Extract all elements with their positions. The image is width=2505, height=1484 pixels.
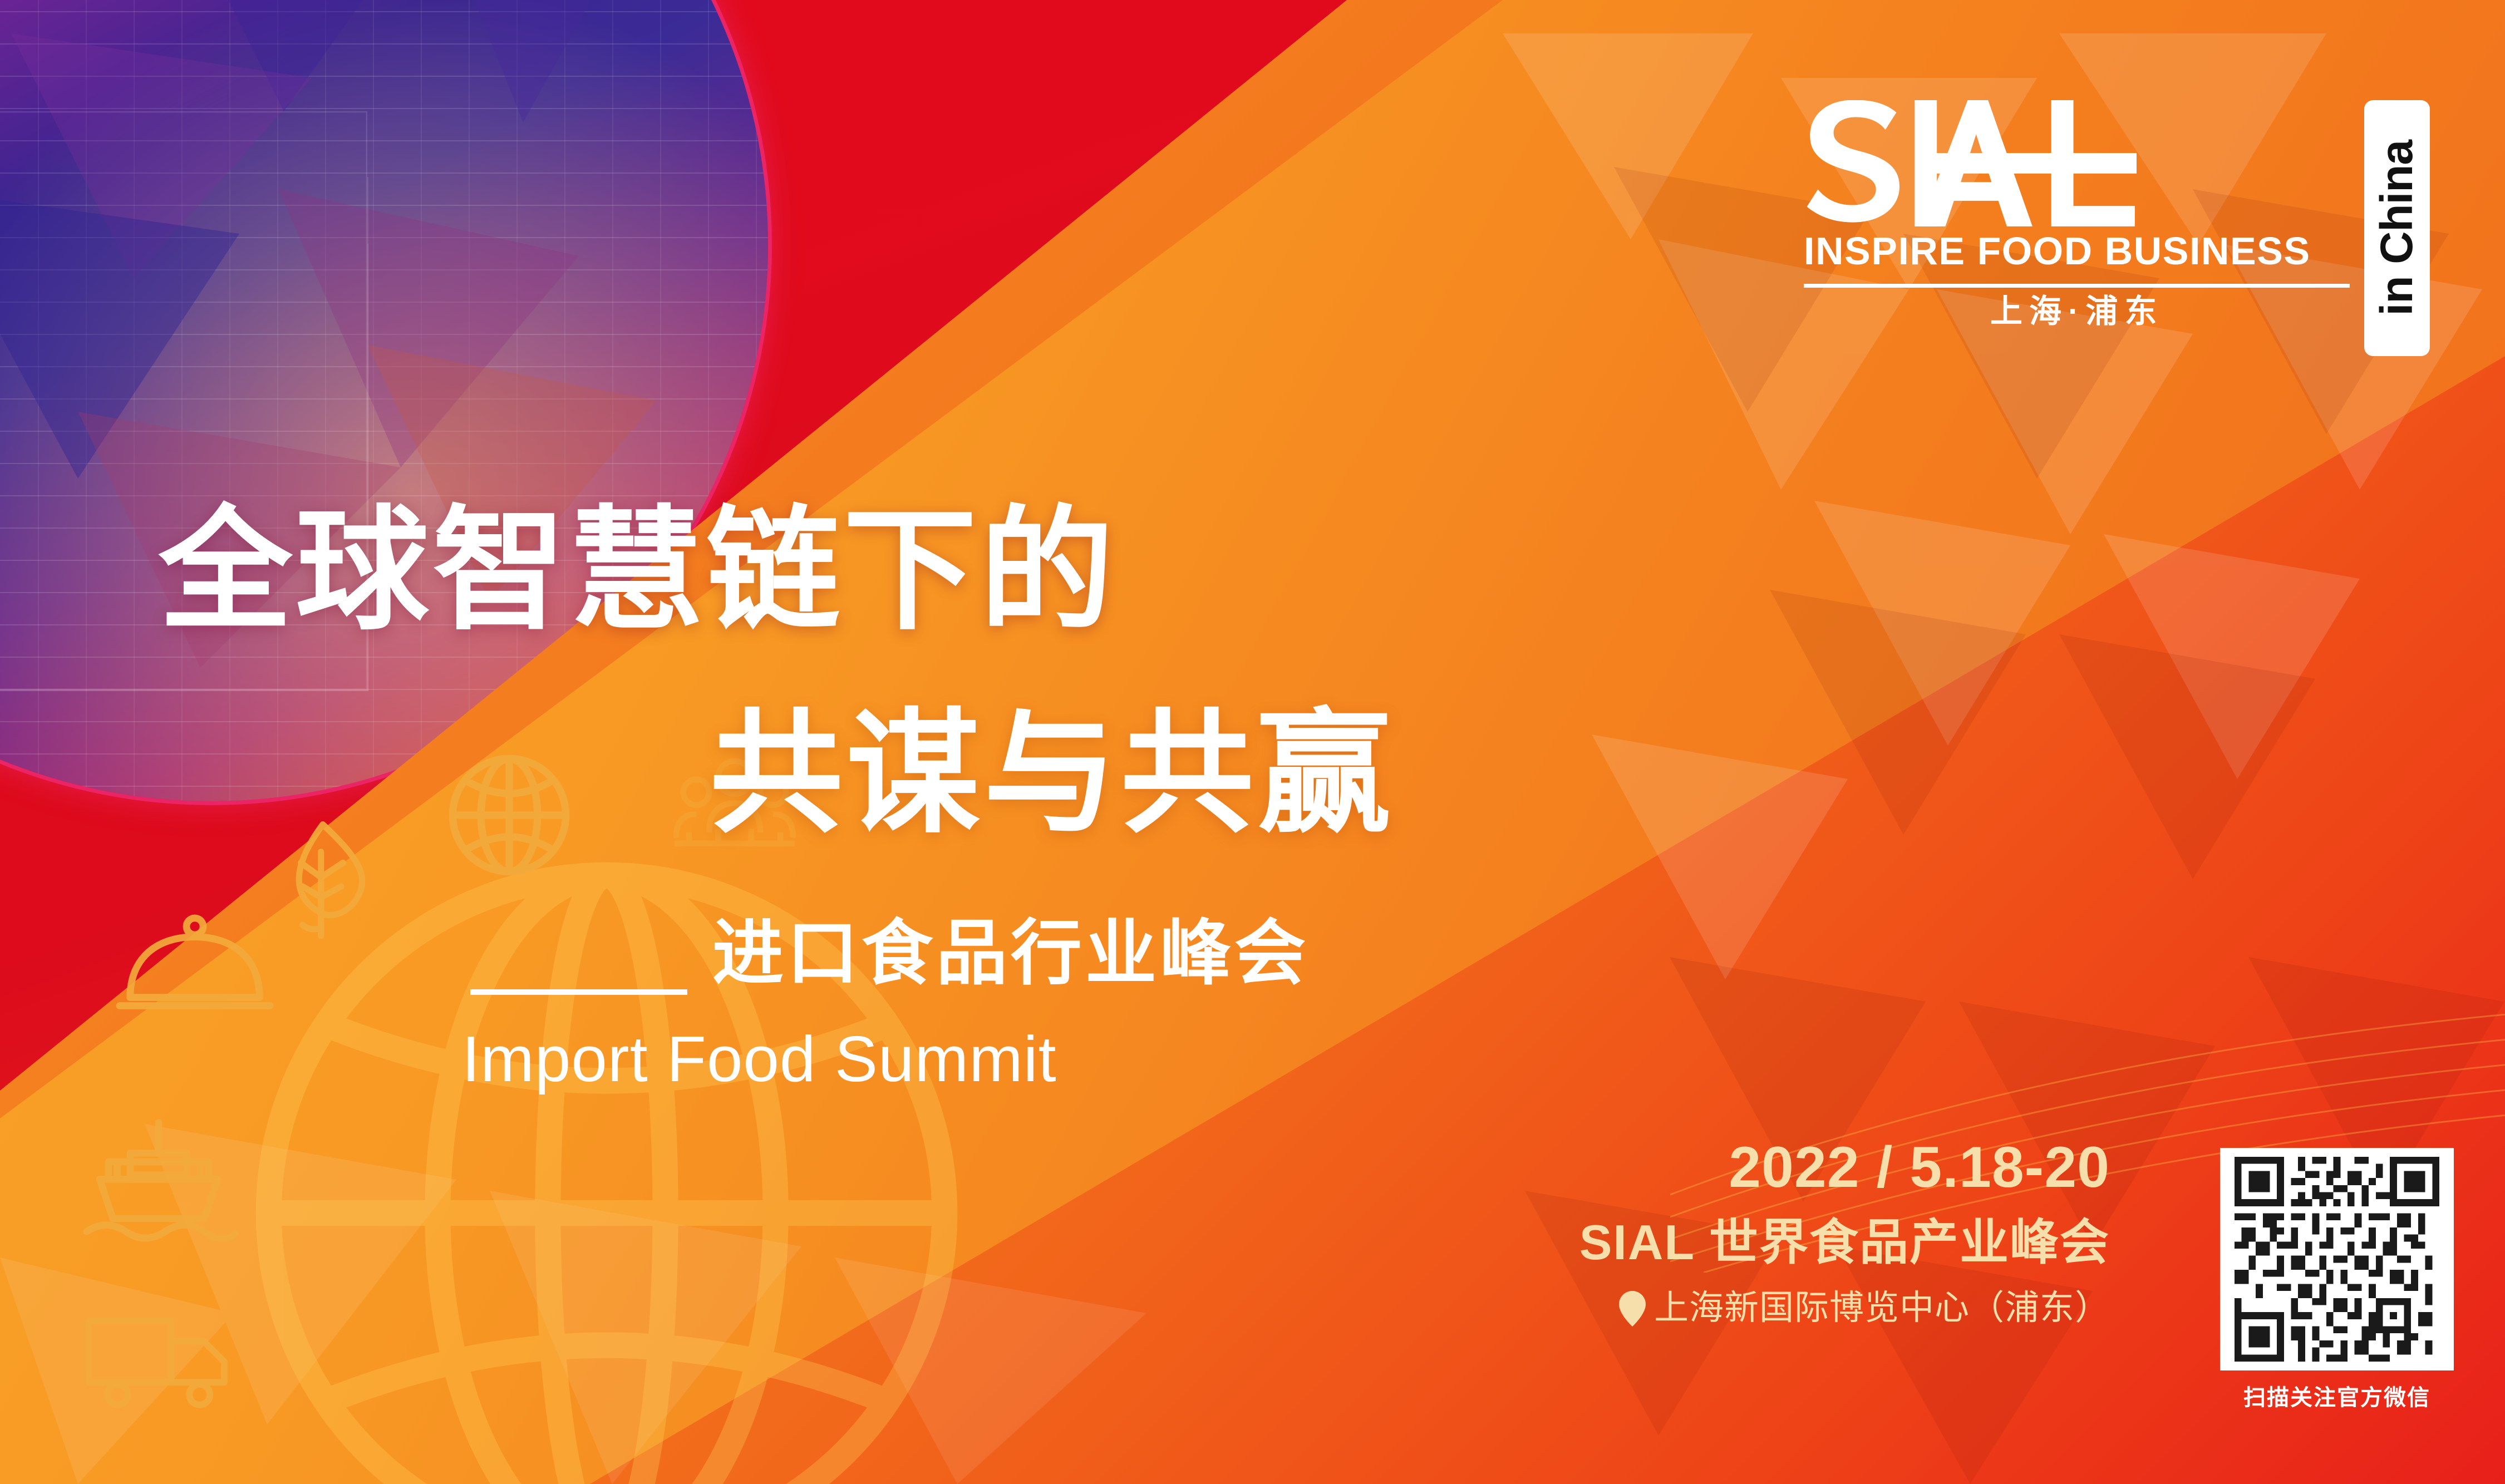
qr-code-icon (2229, 1157, 2445, 1362)
logo-city: 上海·浦东 (1804, 295, 2350, 328)
map-pin-icon (1618, 1291, 1646, 1327)
logo-main-block: INSPIRE FOOD BUSINESS 上海·浦东 (1804, 100, 2350, 328)
event-date: 2022 / 5.18-20 (1579, 1135, 2110, 1200)
globe-icon (440, 746, 579, 885)
subtitle-english: Import Food Summit (462, 1027, 1057, 1091)
in-china-label: in China (2374, 140, 2420, 315)
event-venue-label: 上海新国际博览中心（浦东） (1654, 1288, 2110, 1329)
event-venue-row: 上海新国际博览中心（浦东） (1579, 1288, 2110, 1329)
event-banner: INSPIRE FOOD BUSINESS 上海·浦东 in China 全球智… (0, 0, 2505, 1484)
qr-block[interactable]: 扫描关注官方微信 (2220, 1148, 2454, 1412)
cloche-icon (111, 907, 278, 1029)
event-info-block: 2022 / 5.18-20 SIAL 世界食品产业峰会 上海新国际博览中心（浦… (1579, 1135, 2110, 1329)
sial-logo: INSPIRE FOOD BUSINESS 上海·浦东 in China (1804, 100, 2394, 356)
leaf-icon (264, 815, 381, 943)
qr-caption: 扫描关注官方微信 (2220, 1379, 2454, 1412)
in-china-badge: in China (2364, 100, 2430, 356)
event-name: SIAL 世界食品产业峰会 (1579, 1212, 2110, 1273)
headline-line-2: 共谋与共赢 (710, 707, 1394, 840)
subtitle-chinese: 进口食品行业峰会 (712, 918, 1309, 989)
sial-wordmark-icon (1804, 100, 2350, 228)
headline-line-1: 全球智慧链下的 (159, 504, 1117, 637)
truck-icon (81, 1302, 237, 1413)
logo-tagline: INSPIRE FOOD BUSINESS (1804, 231, 2350, 270)
subtitle-rule (470, 989, 687, 995)
ship-icon (78, 1113, 239, 1263)
logo-divider (1804, 284, 2350, 288)
qr-code-image[interactable] (2220, 1148, 2454, 1370)
